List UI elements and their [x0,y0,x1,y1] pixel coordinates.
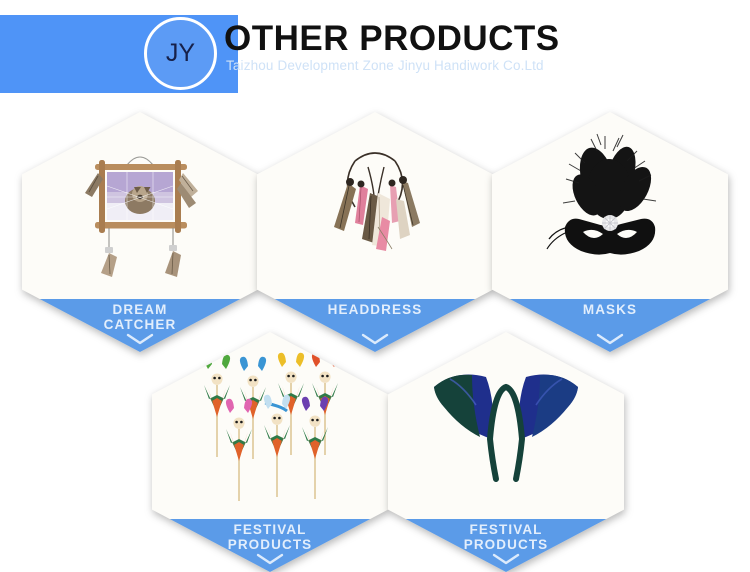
category-card-headdress[interactable]: HEADDRESS [257,112,493,352]
product-category-grid: DREAM CATCHER [0,0,750,572]
card-surface: DREAM CATCHER [22,112,258,352]
category-card-masks[interactable]: MASKS [492,112,728,352]
mask-photo [492,112,728,299]
chevron-down-icon[interactable] [255,552,285,566]
card-surface: MASKS [492,112,728,352]
category-card-festival-products-2[interactable]: FESTIVAL PRODUCTS [388,332,624,572]
card-surface: HEADDRESS [257,112,493,352]
chevron-down-icon[interactable] [491,552,521,566]
headdress-photo [257,112,493,299]
cat-ears-headband-photo [388,332,624,519]
category-card-festival-products-1[interactable]: FESTIVAL PRODUCTS [152,332,388,572]
category-card-dream-catcher[interactable]: DREAM CATCHER [22,112,258,352]
festival-picks-photo [152,332,388,519]
chevron-down-icon[interactable] [125,332,155,346]
card-surface: FESTIVAL PRODUCTS [152,332,388,572]
dream-catcher-photo [22,112,258,299]
card-surface: FESTIVAL PRODUCTS [388,332,624,572]
